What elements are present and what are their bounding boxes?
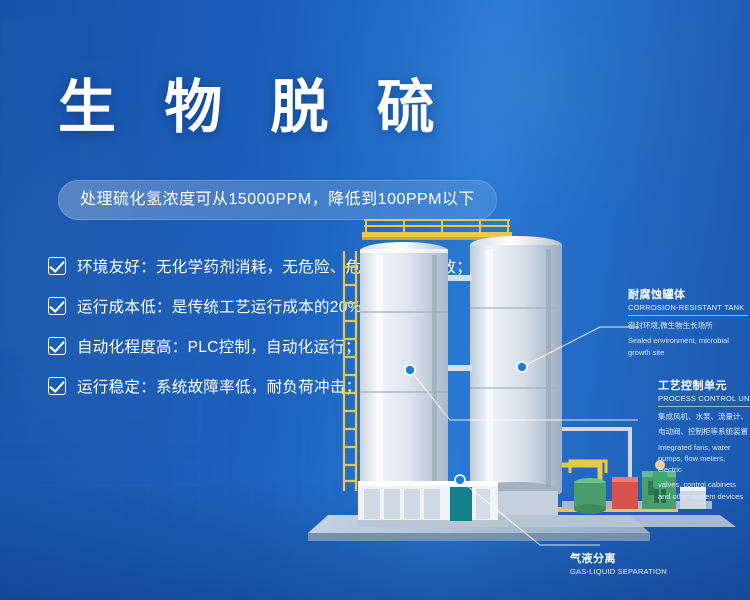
callout-desc-en-1: Integrated fans, water pumps, flow meter…	[658, 442, 750, 476]
page-title: 生 物 脱 硫	[58, 78, 449, 136]
callout-desc-cn: 密封环境,微生物生长场所	[628, 320, 748, 331]
callout-title-cn: 耐腐蚀罐体	[628, 286, 748, 302]
callout-title-en: PROCESS CONTROL UNIT	[658, 394, 750, 403]
callout-divider	[658, 406, 750, 407]
callout-title-en: GAS-LIQUID SEPARATION	[570, 567, 710, 576]
callout-corrosion-resistant-tank: 耐腐蚀罐体 CORROSION-RESISTANT TANK 密封环境,微生物生…	[628, 286, 748, 358]
callout-process-control-unit: 工艺控制单元 PROCESS CONTROL UNIT 集成风机、水泵、流量计、…	[658, 377, 750, 502]
check-icon	[48, 297, 66, 315]
callout-desc-cn-1: 集成风机、水泵、流量计、	[658, 411, 750, 422]
check-icon	[48, 337, 66, 355]
callout-desc-en-2: valves, control cabinets and other syste…	[658, 479, 750, 502]
tank-right	[470, 236, 562, 515]
marker-dot	[517, 362, 527, 372]
callout-gas-liquid-separation: 气液分离 GAS-LIQUID SEPARATION	[570, 550, 710, 576]
marker-dot	[455, 475, 465, 485]
callout-desc-en: Sealed environment, microbial growth sit…	[628, 335, 748, 358]
callout-title-cn: 工艺控制单元	[658, 377, 750, 393]
control-cabinet	[358, 481, 508, 527]
promo-banner: 生 物 脱 硫 处理硫化氢浓度可从15000PPM，降低到100PPM以下 环境…	[0, 0, 750, 600]
ladder	[344, 251, 356, 491]
check-icon	[48, 257, 66, 275]
check-icon	[48, 377, 66, 395]
marker-dot	[405, 365, 415, 375]
tank-left	[360, 242, 448, 515]
subtitle-pill: 处理硫化氢浓度可从15000PPM，降低到100PPM以下	[58, 180, 497, 220]
top-platform	[362, 219, 512, 240]
callout-title-cn: 气液分离	[570, 550, 710, 566]
callout-divider	[628, 315, 748, 316]
callout-title-en: CORROSION-RESISTANT TANK	[628, 303, 748, 312]
callout-desc-cn-2: 电动阀、控制柜等系统装置	[658, 426, 750, 437]
